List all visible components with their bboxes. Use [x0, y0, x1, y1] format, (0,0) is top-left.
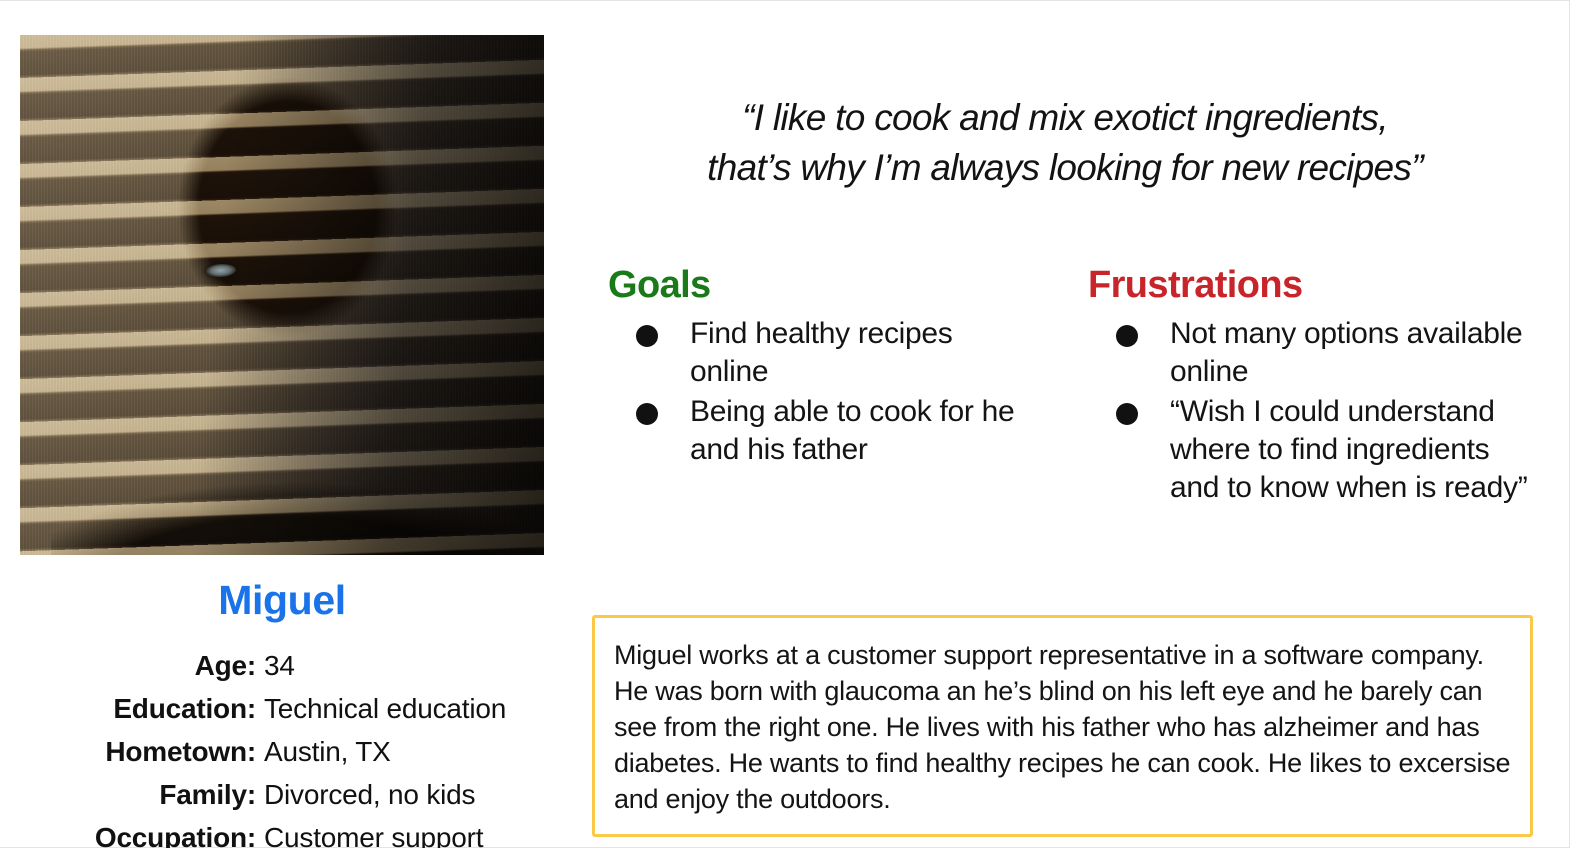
info-row-age: Age: 34 [0, 646, 560, 685]
goals-heading: Goals [608, 263, 1038, 307]
goal-text: Being able to cook for he and his father [690, 393, 1038, 469]
info-value: 34 [256, 646, 295, 685]
persona-bio-text: Miguel works at a customer support repre… [614, 637, 1513, 817]
info-label: Education: [0, 689, 256, 728]
goal-text: Find healthy recipes online [690, 315, 1038, 391]
info-row-occupation: Occupation: Customer support [0, 818, 560, 848]
info-label: Occupation: [0, 818, 256, 848]
bullet-dot-icon [1116, 325, 1138, 347]
frustrations-heading: Frustrations [1088, 263, 1538, 307]
bullet-dot-icon [636, 403, 658, 425]
info-label: Age: [0, 646, 256, 685]
info-label: Hometown: [0, 732, 256, 771]
persona-bio-box: Miguel works at a customer support repre… [592, 615, 1533, 837]
info-value: Technical education [256, 689, 506, 728]
persona-photo [20, 35, 544, 555]
frustration-text: “Wish I could understand where to find i… [1170, 393, 1538, 507]
list-item: “Wish I could understand where to find i… [1088, 393, 1538, 507]
frustration-text: Not many options available online [1170, 315, 1538, 391]
list-item: Being able to cook for he and his father [608, 393, 1038, 469]
info-value: Customer support [256, 818, 483, 848]
goals-list: Find healthy recipes online Being able t… [608, 315, 1038, 469]
list-item: Not many options available online [1088, 315, 1538, 391]
quote-line-1: “I like to cook and mix exotict ingredie… [600, 93, 1530, 143]
info-value: Austin, TX [256, 732, 391, 771]
persona-info-table: Age: 34 Education: Technical education H… [0, 646, 560, 848]
persona-quote: “I like to cook and mix exotict ingredie… [600, 93, 1530, 193]
quote-line-2: that’s why I’m always looking for new re… [600, 143, 1530, 193]
list-item: Find healthy recipes online [608, 315, 1038, 391]
photo-vignette [20, 35, 544, 555]
info-row-hometown: Hometown: Austin, TX [0, 732, 560, 771]
frustrations-list: Not many options available online “Wish … [1088, 315, 1538, 507]
persona-name: Miguel [20, 577, 544, 624]
info-label: Family: [0, 775, 256, 814]
bullet-dot-icon [1116, 403, 1138, 425]
goals-section: Goals Find healthy recipes online Being … [608, 263, 1038, 471]
frustrations-section: Frustrations Not many options available … [1088, 263, 1538, 509]
info-value: Divorced, no kids [256, 775, 475, 814]
info-row-education: Education: Technical education [0, 689, 560, 728]
info-row-family: Family: Divorced, no kids [0, 775, 560, 814]
persona-slide: Miguel Age: 34 Education: Technical educ… [0, 0, 1570, 848]
bullet-dot-icon [636, 325, 658, 347]
